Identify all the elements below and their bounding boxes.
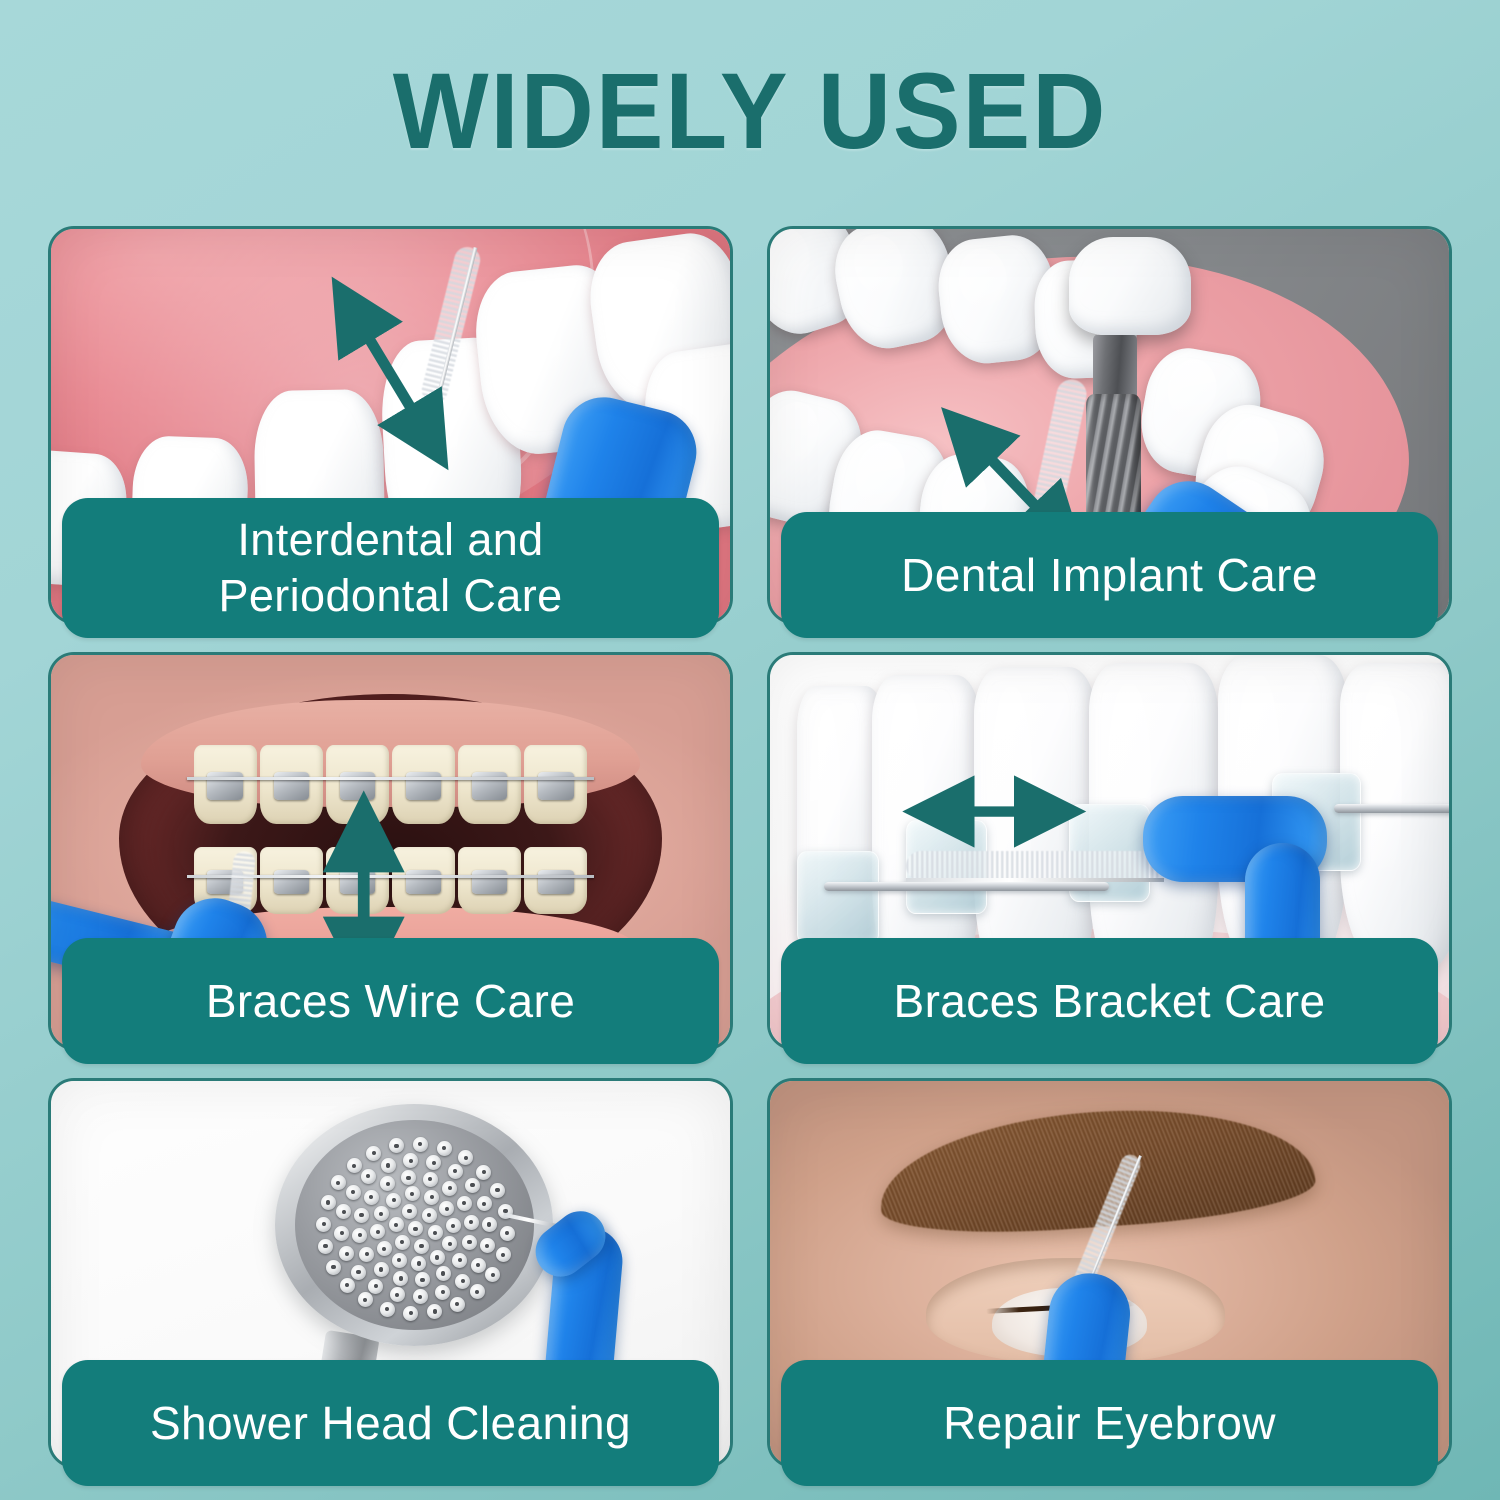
shower-nozzle (430, 1250, 445, 1265)
brush-bristles (906, 851, 1164, 881)
shower-nozzle (336, 1204, 351, 1219)
shower-nozzle (408, 1221, 423, 1236)
shower-nozzle (500, 1226, 515, 1241)
shower-nozzle (452, 1253, 467, 1268)
shower-nozzle (334, 1226, 349, 1241)
card-caption-braces-bracket: Braces Bracket Care (781, 938, 1438, 1064)
archwire (1334, 804, 1449, 813)
shower-nozzle (381, 1158, 396, 1173)
shower-nozzle (437, 1141, 452, 1156)
shower-nozzle (439, 1201, 454, 1216)
shower-nozzle (347, 1158, 362, 1173)
card-caption-braces-wire: Braces Wire Care (62, 938, 719, 1064)
shower-nozzle (464, 1215, 479, 1230)
page-title: WIDELY USED (45, 52, 1455, 170)
shower-nozzle (423, 1172, 438, 1187)
use-case-grid: Interdental and Periodontal Care (48, 226, 1452, 1454)
shower-nozzle (340, 1278, 355, 1293)
shower-nozzle (480, 1238, 495, 1253)
shower-nozzle (414, 1239, 429, 1254)
shower-nozzle (490, 1183, 505, 1198)
shower-head-icon (275, 1104, 553, 1346)
shower-nozzle (496, 1247, 511, 1262)
shower-nozzle (393, 1271, 408, 1286)
shower-nozzle (442, 1236, 457, 1251)
shower-nozzle (351, 1265, 366, 1280)
shower-nozzle (389, 1138, 404, 1153)
shower-nozzle (370, 1224, 385, 1239)
shower-nozzle (402, 1204, 417, 1219)
shower-nozzle (436, 1266, 451, 1281)
upper-teeth-row (194, 745, 588, 823)
shower-nozzle (458, 1150, 473, 1165)
shower-nozzle (435, 1285, 450, 1300)
shower-nozzle (321, 1195, 336, 1210)
ceramic-bracket (797, 851, 878, 945)
shower-nozzle (401, 1170, 416, 1185)
shower-nozzle (358, 1292, 373, 1307)
shower-nozzle (485, 1267, 500, 1282)
use-case-card-braces-wire-care[interactable]: Braces Wire Care (48, 652, 733, 1064)
shower-nozzle (482, 1217, 497, 1232)
shower-nozzle (403, 1153, 418, 1168)
card-caption-implant: Dental Implant Care (781, 512, 1438, 638)
shower-nozzle (450, 1297, 465, 1312)
shower-nozzle (380, 1176, 395, 1191)
shower-nozzle (316, 1217, 331, 1232)
shower-nozzle (448, 1164, 463, 1179)
shower-nozzle (392, 1253, 407, 1268)
shower-nozzle (413, 1137, 428, 1152)
shower-nozzle (470, 1284, 485, 1299)
card-caption-shower-head: Shower Head Cleaning (62, 1360, 719, 1486)
shower-nozzle (377, 1241, 392, 1256)
card-caption-interdental: Interdental and Periodontal Care (62, 498, 719, 638)
shower-nozzle (364, 1190, 379, 1205)
shower-nozzle (374, 1206, 389, 1221)
shower-nozzle (352, 1228, 367, 1243)
shower-nozzle (411, 1256, 426, 1271)
shower-nozzle (465, 1178, 480, 1193)
archwire (824, 882, 1109, 891)
shower-nozzle (403, 1306, 418, 1321)
shower-nozzle (405, 1186, 420, 1201)
shower-nozzle (462, 1235, 477, 1250)
card-caption-eyebrow: Repair Eyebrow (781, 1360, 1438, 1486)
shower-nozzle (380, 1302, 395, 1317)
use-case-card-dental-implant-care[interactable]: Dental Implant Care (767, 226, 1452, 638)
shower-nozzle (390, 1287, 405, 1302)
shower-nozzle (359, 1247, 374, 1262)
shower-nozzle (318, 1239, 333, 1254)
shower-nozzle (374, 1262, 389, 1277)
shower-nozzle (346, 1185, 361, 1200)
shower-nozzle (427, 1304, 442, 1319)
shower-nozzle (415, 1272, 430, 1287)
shower-nozzle (422, 1208, 437, 1223)
motion-arrow-icon (906, 788, 1083, 835)
shower-nozzle (366, 1146, 381, 1161)
shower-nozzle (424, 1190, 439, 1205)
shower-nozzle (361, 1169, 376, 1184)
shower-nozzle (471, 1258, 486, 1273)
shower-nozzle (395, 1235, 410, 1250)
shower-nozzle (386, 1193, 401, 1208)
shower-nozzle (428, 1225, 443, 1240)
shower-nozzle (326, 1260, 341, 1275)
shower-nozzle (455, 1274, 470, 1289)
shower-nozzle (476, 1165, 491, 1180)
shower-nozzle (354, 1208, 369, 1223)
use-case-card-shower-head-cleaning[interactable]: Shower Head Cleaning (48, 1078, 733, 1482)
shower-nozzle (339, 1246, 354, 1261)
use-case-card-interdental-periodontal-care[interactable]: Interdental and Periodontal Care (48, 226, 733, 638)
use-case-card-repair-eyebrow[interactable]: Repair Eyebrow (767, 1078, 1452, 1482)
shower-nozzle (426, 1155, 441, 1170)
shower-nozzle (477, 1196, 492, 1211)
caption-text: Interdental and Periodontal Care (218, 512, 562, 624)
shower-nozzle (442, 1181, 457, 1196)
shower-nozzle (446, 1218, 461, 1233)
motion-arrow-icon (295, 296, 485, 453)
shower-nozzle (368, 1279, 383, 1294)
shower-nozzle (457, 1196, 472, 1211)
shower-nozzle (331, 1175, 346, 1190)
use-case-card-braces-bracket-care[interactable]: Braces Bracket Care (767, 652, 1452, 1064)
shower-nozzle (413, 1289, 428, 1304)
shower-nozzle (389, 1217, 404, 1232)
implant-crown (1069, 237, 1191, 335)
